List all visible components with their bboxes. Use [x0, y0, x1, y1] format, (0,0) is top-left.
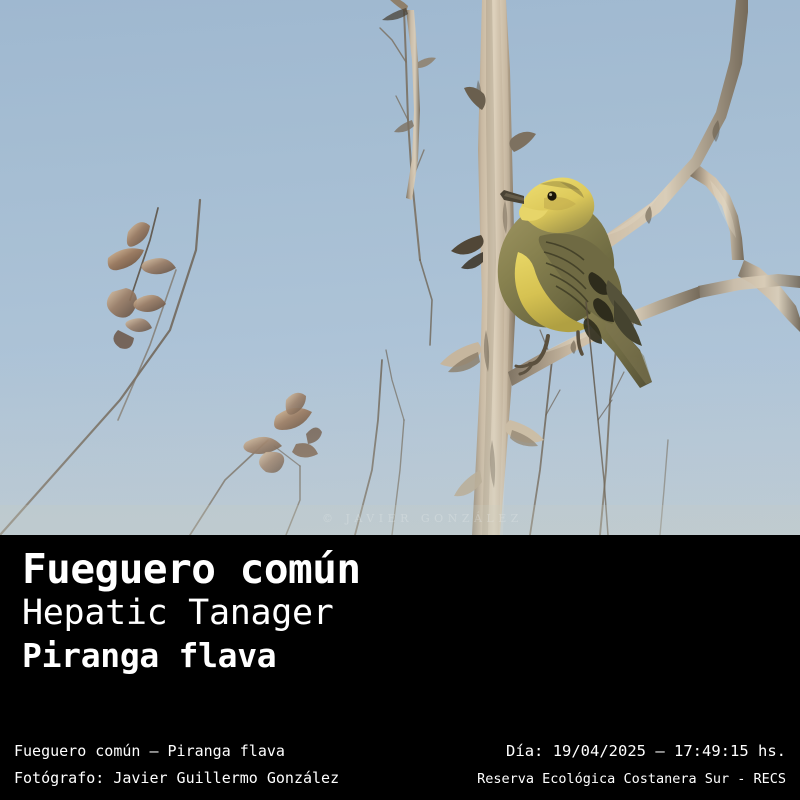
species-names: Fueguero común Hepatic Tanager Piranga f…: [22, 545, 361, 678]
footer-location: Reserva Ecológica Costanera Sur - RECS: [477, 770, 786, 789]
english-name: Hepatic Tanager: [22, 593, 361, 634]
sky-haze-overlay: [0, 355, 800, 535]
footer-photographer: Fotógrafo: Javier Guillermo González: [14, 769, 339, 788]
upper-left-stick: [388, 0, 436, 200]
scientific-name: Piranga flava: [22, 634, 361, 678]
photograph: © JAVIER GONZÁLEZ: [0, 0, 800, 535]
footer-datetime: Día: 19/04/2025 – 17:49:15 hs.: [506, 742, 786, 761]
footer-bar: Fueguero común – Piranga flava Fotógrafo…: [0, 742, 800, 800]
common-name: Fueguero común: [22, 545, 361, 593]
footer-species-line: Fueguero común – Piranga flava: [14, 742, 285, 761]
bird-photo-card: © JAVIER GONZÁLEZ Fueguero común Hepatic…: [0, 0, 800, 800]
dried-leaves-cluster-left: [107, 222, 176, 349]
photographer-watermark: © JAVIER GONZÁLEZ: [322, 512, 523, 525]
